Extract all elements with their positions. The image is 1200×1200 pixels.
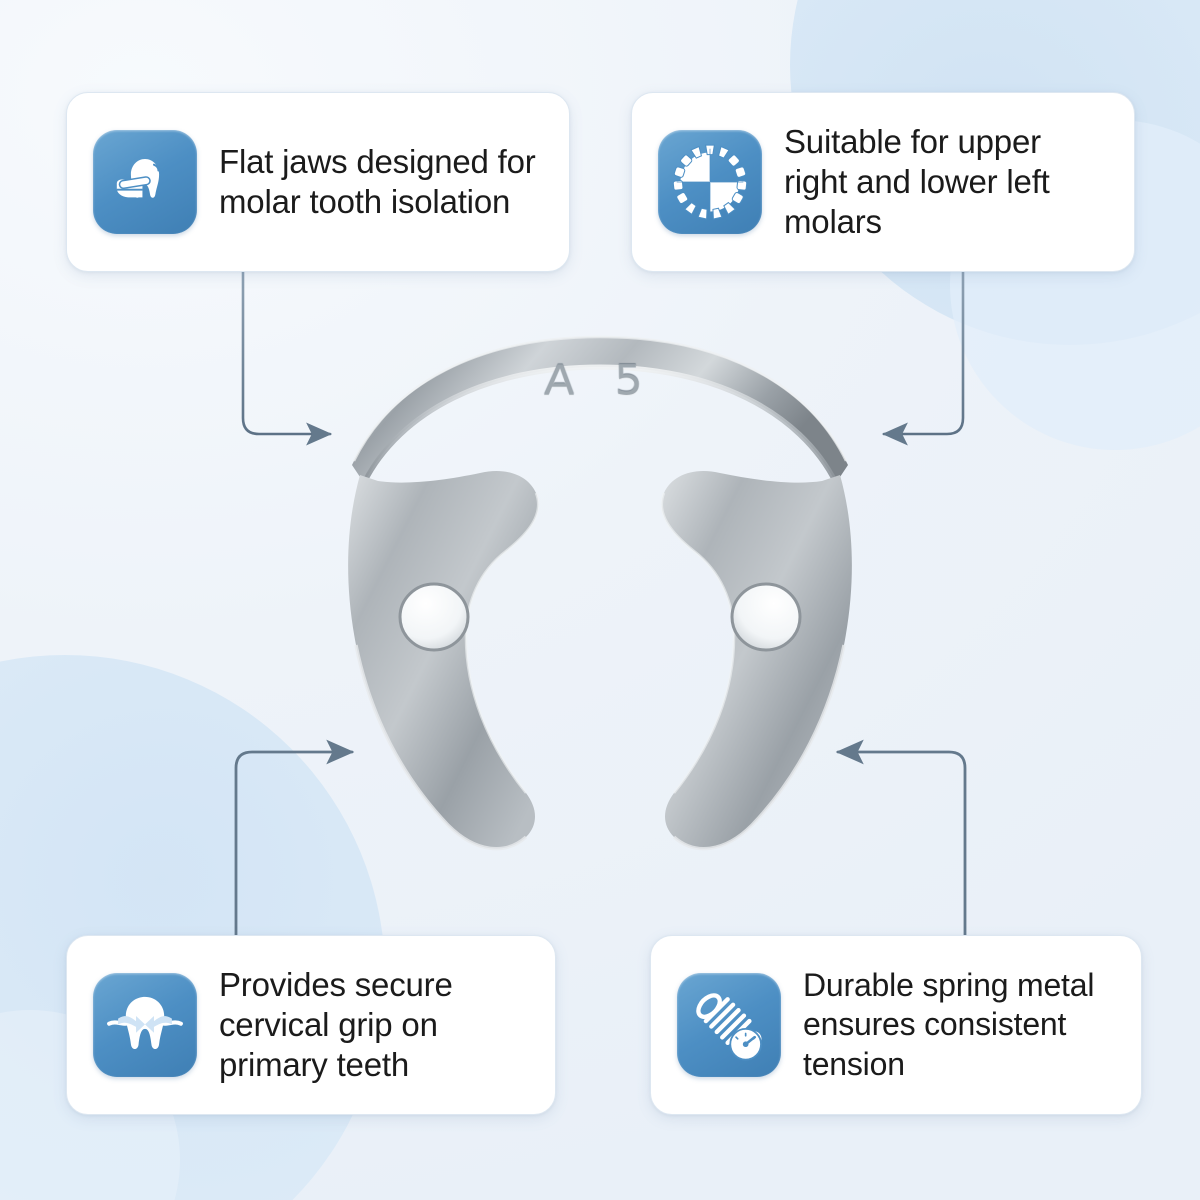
feature-card-spring-tension[interactable]: Durable spring metal ensures consistent …	[650, 935, 1142, 1115]
tooth-with-converging-arrows-icon	[93, 973, 197, 1077]
feature-card-quadrant-suitability[interactable]: Suitable for upper right and lower left …	[631, 92, 1135, 272]
feature-card-text: Suitable for upper right and lower left …	[784, 122, 1108, 243]
feature-card-flat-jaws[interactable]: Flat jaws designed for molar tooth isola…	[66, 92, 570, 272]
clamp-jaw-right-hole	[732, 584, 800, 650]
tooth-in-gum-with-flat-jaw-icon	[93, 130, 197, 234]
infographic-canvas: A 5 Flat jaws designed for molar tooth i…	[0, 0, 1200, 1200]
cervical-grip-glyph	[104, 984, 186, 1066]
clamp-jaw-left	[348, 471, 538, 849]
clamp-jaw-right	[662, 471, 852, 849]
feature-card-text: Durable spring metal ensures consistent …	[803, 966, 1115, 1083]
spring-gauge-glyph	[688, 984, 770, 1066]
product-image-dental-clamp: A 5	[330, 315, 870, 875]
clamp-jaw-left-hole	[400, 584, 468, 650]
feature-card-cervical-grip[interactable]: Provides secure cervical grip on primary…	[66, 935, 556, 1115]
feature-card-text: Provides secure cervical grip on primary…	[219, 965, 529, 1086]
feature-card-text: Flat jaws designed for molar tooth isola…	[219, 142, 543, 223]
connector-top-left	[243, 272, 330, 434]
coil-spring-with-gauge-icon	[677, 973, 781, 1077]
clamp-bow	[352, 337, 848, 483]
dental-quadrant-chart-icon	[658, 130, 762, 234]
tooth-in-gum-glyph	[104, 141, 186, 223]
connector-top-right	[884, 272, 963, 434]
dental-clamp-illustration	[330, 315, 870, 875]
dental-quadrant-glyph	[669, 141, 751, 223]
